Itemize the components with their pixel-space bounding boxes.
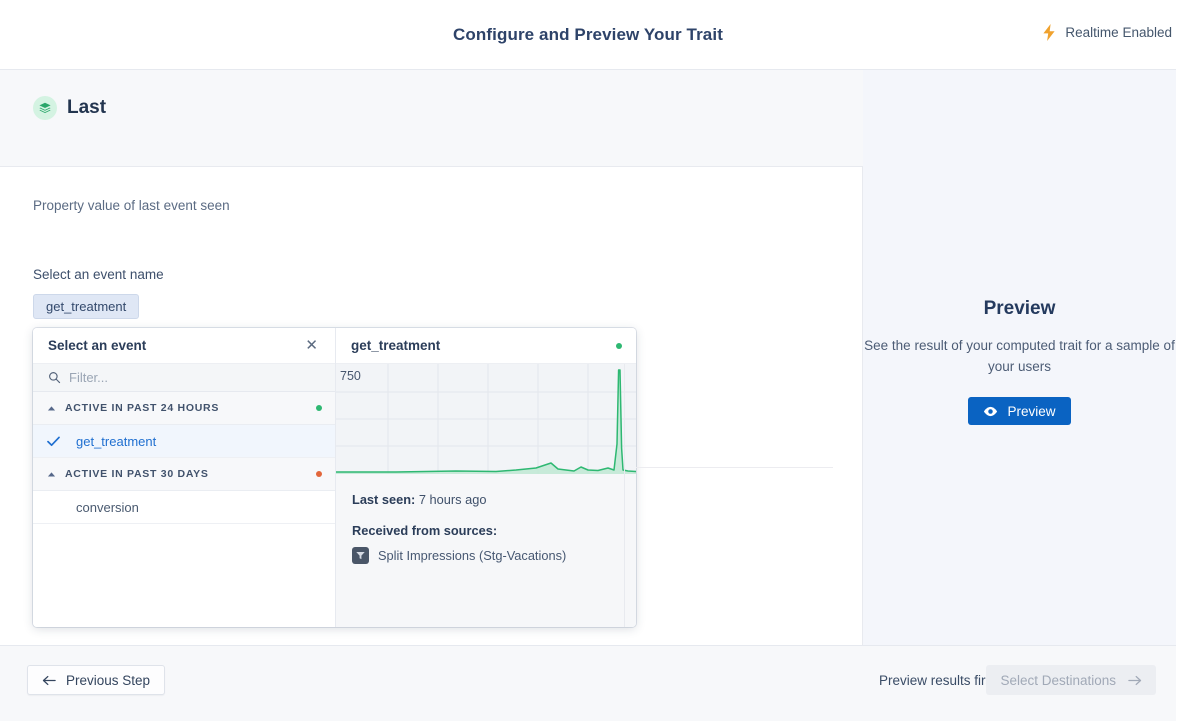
trait-title-row: Last bbox=[33, 96, 106, 120]
search-input[interactable] bbox=[69, 370, 289, 385]
eye-icon bbox=[983, 406, 998, 417]
page-footer: Previous Step Preview results first Sele… bbox=[0, 645, 1176, 721]
chart-canvas bbox=[336, 364, 636, 474]
selected-event-chip[interactable]: get_treatment bbox=[33, 294, 139, 319]
event-group-label: ACTIVE IN PAST 24 HOURS bbox=[65, 402, 316, 414]
arrow-left-icon bbox=[42, 675, 56, 686]
select-destinations-button[interactable]: Select Destinations bbox=[986, 665, 1156, 695]
page-right-edge bbox=[1176, 0, 1186, 721]
trait-configuration-page: Configure and Preview Your Trait Realtim… bbox=[0, 0, 1186, 721]
page-body: Last Property value of last event seen S… bbox=[0, 70, 1186, 645]
source-item: Split Impressions (Stg-Vacations) bbox=[352, 547, 624, 564]
event-group-header-24h[interactable]: ACTIVE IN PAST 24 HOURS bbox=[33, 392, 335, 425]
trait-summary-band: Last Property value of last event seen bbox=[0, 70, 863, 167]
event-option-label: conversion bbox=[76, 500, 139, 515]
close-icon[interactable]: ✕ bbox=[302, 336, 321, 355]
event-select-label: Select an event name bbox=[33, 267, 164, 282]
status-dot bbox=[316, 471, 322, 477]
previous-step-label: Previous Step bbox=[66, 673, 150, 688]
trait-name: Last bbox=[67, 97, 106, 119]
event-list-pane: Select an event ✕ AC bbox=[33, 328, 336, 627]
event-detail-pane: get_treatment bbox=[336, 328, 636, 627]
lightning-bolt-icon bbox=[1042, 24, 1056, 41]
preview-button[interactable]: Preview bbox=[968, 397, 1070, 425]
event-meta: Last seen: 7 hours ago Received from sou… bbox=[352, 492, 624, 564]
caret-up-icon bbox=[47, 470, 56, 479]
event-option-get-treatment[interactable]: get_treatment bbox=[33, 425, 335, 458]
chart-baseline-extension bbox=[636, 467, 833, 468]
source-name: Split Impressions (Stg-Vacations) bbox=[378, 548, 566, 563]
preview-column: Preview See the result of your computed … bbox=[863, 70, 1176, 645]
sources-label: Received from sources: bbox=[352, 523, 624, 538]
layers-icon bbox=[33, 96, 57, 120]
event-picker-popover: Select an event ✕ AC bbox=[33, 328, 636, 627]
search-icon bbox=[48, 371, 61, 384]
select-destinations-label: Select Destinations bbox=[1000, 673, 1116, 688]
preview-button-label: Preview bbox=[1007, 404, 1055, 419]
page-header: Configure and Preview Your Trait bbox=[0, 0, 1176, 70]
footer-note: Preview results first bbox=[879, 673, 996, 688]
chart-pane-divider bbox=[624, 364, 625, 627]
event-volume-chart: 750 bbox=[336, 364, 636, 474]
arrow-right-icon bbox=[1128, 675, 1142, 686]
source-funnel-icon bbox=[352, 547, 369, 564]
configuration-column: Last Property value of last event seen S… bbox=[0, 70, 863, 645]
preview-description: See the result of your computed trait fo… bbox=[863, 335, 1176, 377]
event-list-title: Select an event bbox=[48, 338, 146, 353]
page-title: Configure and Preview Your Trait bbox=[453, 25, 723, 45]
preview-panel: Preview See the result of your computed … bbox=[863, 298, 1176, 425]
realtime-label: Realtime Enabled bbox=[1065, 25, 1172, 40]
status-dot bbox=[316, 405, 322, 411]
check-icon bbox=[47, 436, 63, 447]
event-group-label: ACTIVE IN PAST 30 DAYS bbox=[65, 468, 316, 480]
event-option-conversion[interactable]: conversion bbox=[33, 491, 335, 524]
event-detail-title: get_treatment bbox=[351, 338, 440, 353]
event-list-header: Select an event ✕ bbox=[33, 328, 335, 364]
event-group-header-30d[interactable]: ACTIVE IN PAST 30 DAYS bbox=[33, 458, 335, 491]
chart-y-tick-label: 750 bbox=[338, 368, 365, 384]
last-seen-line: Last seen: 7 hours ago bbox=[352, 492, 624, 507]
caret-up-icon bbox=[47, 404, 56, 413]
event-filter-row[interactable] bbox=[33, 364, 335, 392]
status-dot bbox=[616, 343, 622, 349]
preview-title: Preview bbox=[863, 298, 1176, 320]
last-seen-label: Last seen: bbox=[352, 492, 415, 507]
event-detail-header: get_treatment bbox=[336, 328, 636, 364]
last-seen-value: 7 hours ago bbox=[419, 492, 487, 507]
realtime-status: Realtime Enabled bbox=[1042, 24, 1172, 41]
previous-step-button[interactable]: Previous Step bbox=[27, 665, 165, 695]
trait-description: Property value of last event seen bbox=[33, 198, 230, 213]
event-option-label: get_treatment bbox=[76, 434, 156, 449]
